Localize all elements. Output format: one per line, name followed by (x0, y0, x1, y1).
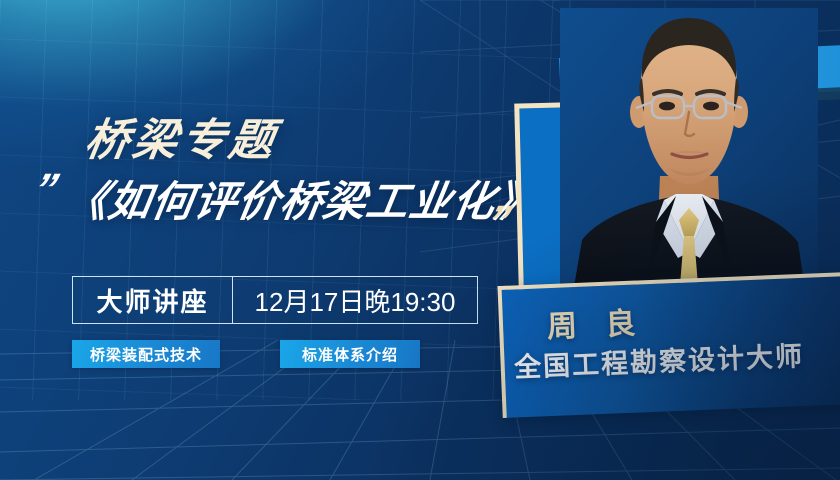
topic-tag-1[interactable]: 桥梁装配式技术 (72, 340, 220, 368)
page-title: 桥梁专题 (81, 104, 283, 168)
page-subtitle: 《如何评价桥梁工业化》 (61, 168, 544, 229)
lecture-datetime: 12月17日晚19:30 (233, 282, 477, 319)
speaker-name: 周 良 (546, 298, 646, 346)
topic-tag-2[interactable]: 标准体系介绍 (280, 340, 420, 368)
lecture-label: 大师讲座 (73, 277, 233, 323)
speaker-portrait (560, 8, 818, 310)
lecture-info-box: 大师讲座 12月17日晚19:30 (72, 276, 478, 324)
promo-banner: ” 桥梁专题 《如何评价桥梁工业化》 ” 大师讲座 12月17日晚19:30 桥… (0, 0, 840, 480)
